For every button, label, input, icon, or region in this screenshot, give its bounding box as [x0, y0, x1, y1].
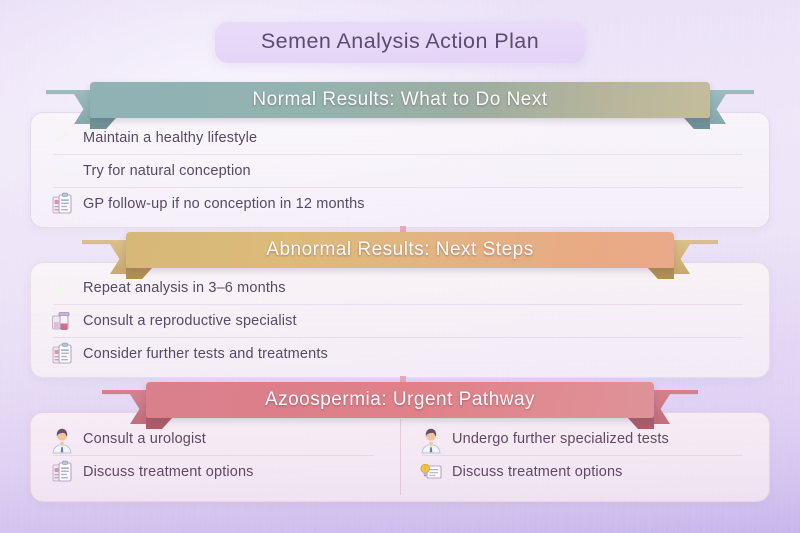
specimen-vial-icon — [49, 308, 75, 334]
list-item-label: Consult a urologist — [83, 431, 206, 447]
check-circle-icon — [49, 125, 75, 151]
check-circle-icon — [49, 275, 75, 301]
doctor-icon — [49, 426, 75, 452]
section-3-columns: Consult a urologist — [31, 413, 769, 501]
infographic-canvas: Semen Analysis Action Plan Maintain a he… — [0, 0, 800, 533]
banner-body: Normal Results: What to Do Next — [90, 82, 710, 118]
list-item-label: Discuss treatment options — [83, 464, 254, 480]
list-item-label: Repeat analysis in 3–6 months — [83, 280, 286, 296]
list-item-label: Maintain a healthy lifestyle — [83, 130, 257, 146]
banner-body: Azoospermia: Urgent Pathway — [146, 382, 654, 418]
azoospermia-column-left: Consult a urologist — [31, 413, 400, 501]
list-item-label: Discuss treatment options — [452, 464, 623, 480]
banner-body: Abnormal Results: Next Steps — [126, 232, 674, 268]
section-1-rows: Maintain a healthy lifestyle Try for nat… — [31, 121, 769, 220]
list-item-label: GP follow-up if no conception in 12 mont… — [83, 196, 365, 212]
section-card-normal-results: Maintain a healthy lifestyle Try for nat… — [30, 112, 770, 228]
doctor-icon — [418, 426, 444, 452]
list-item-label: Try for natural conception — [83, 163, 251, 179]
list-item[interactable]: Consult a urologist — [31, 422, 400, 455]
page-title: Semen Analysis Action Plan — [0, 22, 800, 63]
list-item[interactable]: Discuss treatment options — [400, 455, 769, 488]
banner-label: Azoospermia: Urgent Pathway — [265, 389, 535, 411]
title-pill: Semen Analysis Action Plan — [215, 22, 585, 63]
section-banner-abnormal-results: Abnormal Results: Next Steps — [88, 232, 712, 268]
check-circle-icon — [49, 158, 75, 184]
list-item-label: Consult a reproductive specialist — [83, 313, 297, 329]
azoospermia-column-right: Undergo further specialized tests — [400, 413, 769, 501]
list-item[interactable]: Maintain a healthy lifestyle — [31, 121, 769, 154]
section-banner-azoospermia: Azoospermia: Urgent Pathway — [108, 382, 692, 418]
lightbulb-idea-icon — [418, 459, 444, 485]
clipboard-icon — [49, 459, 75, 485]
list-item-label: Undergo further specialized tests — [452, 431, 669, 447]
list-item[interactable]: Try for natural conception — [31, 154, 769, 187]
banner-label: Abnormal Results: Next Steps — [266, 239, 533, 261]
page-title-text: Semen Analysis Action Plan — [261, 29, 539, 53]
clipboard-icon — [49, 191, 75, 217]
list-item[interactable]: GP follow-up if no conception in 12 mont… — [31, 187, 769, 220]
section-banner-normal-results: Normal Results: What to Do Next — [52, 82, 748, 118]
list-item[interactable]: Undergo further specialized tests — [400, 422, 769, 455]
section-card-abnormal-results: Repeat analysis in 3–6 months Consult a … — [30, 262, 770, 378]
banner-label: Normal Results: What to Do Next — [252, 89, 547, 111]
list-item[interactable]: Consult a reproductive specialist — [31, 304, 769, 337]
section-2-rows: Repeat analysis in 3–6 months Consult a … — [31, 271, 769, 370]
clipboard-icon — [49, 341, 75, 367]
list-item[interactable]: Discuss treatment options — [31, 455, 400, 488]
list-item[interactable]: Consider further tests and treatments — [31, 337, 769, 370]
list-item-label: Consider further tests and treatments — [83, 346, 328, 362]
section-card-azoospermia: Consult a urologist — [30, 412, 770, 502]
